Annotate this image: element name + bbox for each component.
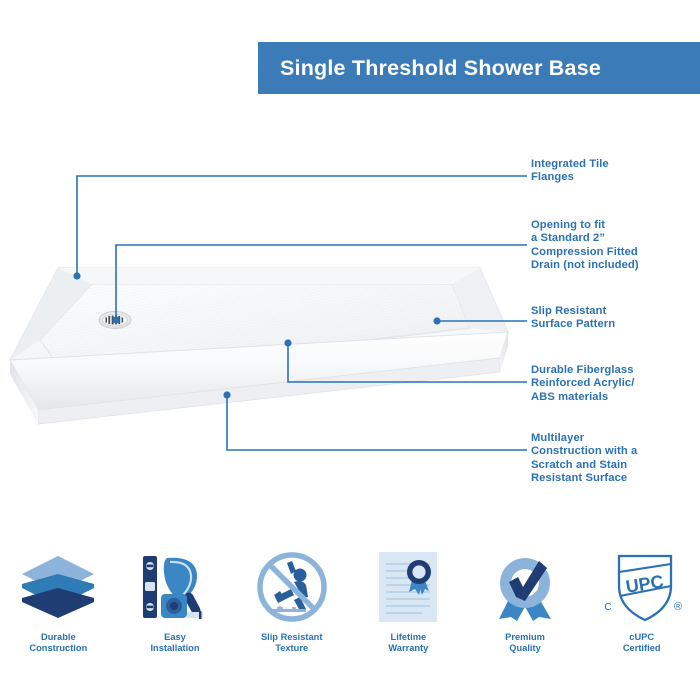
no-slipping-icon <box>256 548 328 626</box>
leader-multilayer-construction <box>227 395 527 450</box>
feature-lifetime-warranty: Lifetime Warranty <box>350 548 467 678</box>
infographic-canvas: Single Threshold Shower Base <box>0 0 700 700</box>
leader-integrated-tile-flanges <box>77 176 527 276</box>
level-trowel-tape-icon <box>139 548 211 626</box>
feature-easy-installation: Easy Installation <box>117 548 234 678</box>
feature-label-cupc-certified: cUPC Certified <box>623 632 661 654</box>
feature-durable-construction: Durable Construction <box>0 548 117 678</box>
feature-label-easy-installation: Easy Installation <box>150 632 199 654</box>
shield-left-mark: C <box>604 602 611 613</box>
upc-shield-icon: UPC C ® <box>601 548 683 626</box>
leader-drain-opening <box>116 245 527 320</box>
feature-label-slip-resistant-texture: Slip Resistant Texture <box>261 632 322 654</box>
check-rosette-icon <box>489 548 561 626</box>
callout-durable-materials: Durable Fiberglass Reinforced Acrylic/ A… <box>531 364 634 404</box>
shield-center-text: UPC <box>624 571 665 597</box>
leader-anchor-dots <box>73 272 440 398</box>
feature-premium-quality: Premium Quality <box>467 548 584 678</box>
leader-durable-materials <box>288 343 527 382</box>
certificate-seal-icon <box>377 548 439 626</box>
callout-integrated-tile-flanges: Integrated Tile Flanges <box>531 158 609 185</box>
shield-right-mark: ® <box>674 601 682 613</box>
callout-slip-resistant-surface: Slip Resistant Surface Pattern <box>531 305 615 332</box>
feature-label-premium-quality: Premium Quality <box>505 632 545 654</box>
stacked-layers-icon <box>20 548 96 626</box>
feature-cupc-certified: UPC C ® cUPC Certified <box>583 548 700 678</box>
callout-multilayer-construction: Multilayer Construction with a Scratch a… <box>531 432 637 486</box>
feature-slip-resistant-texture: Slip Resistant Texture <box>233 548 350 678</box>
feature-row: Durable Construction <box>0 548 700 678</box>
feature-label-durable-construction: Durable Construction <box>29 632 87 654</box>
feature-label-lifetime-warranty: Lifetime Warranty <box>388 632 428 654</box>
callout-drain-opening: Opening to fit a Standard 2” Compression… <box>531 219 639 273</box>
